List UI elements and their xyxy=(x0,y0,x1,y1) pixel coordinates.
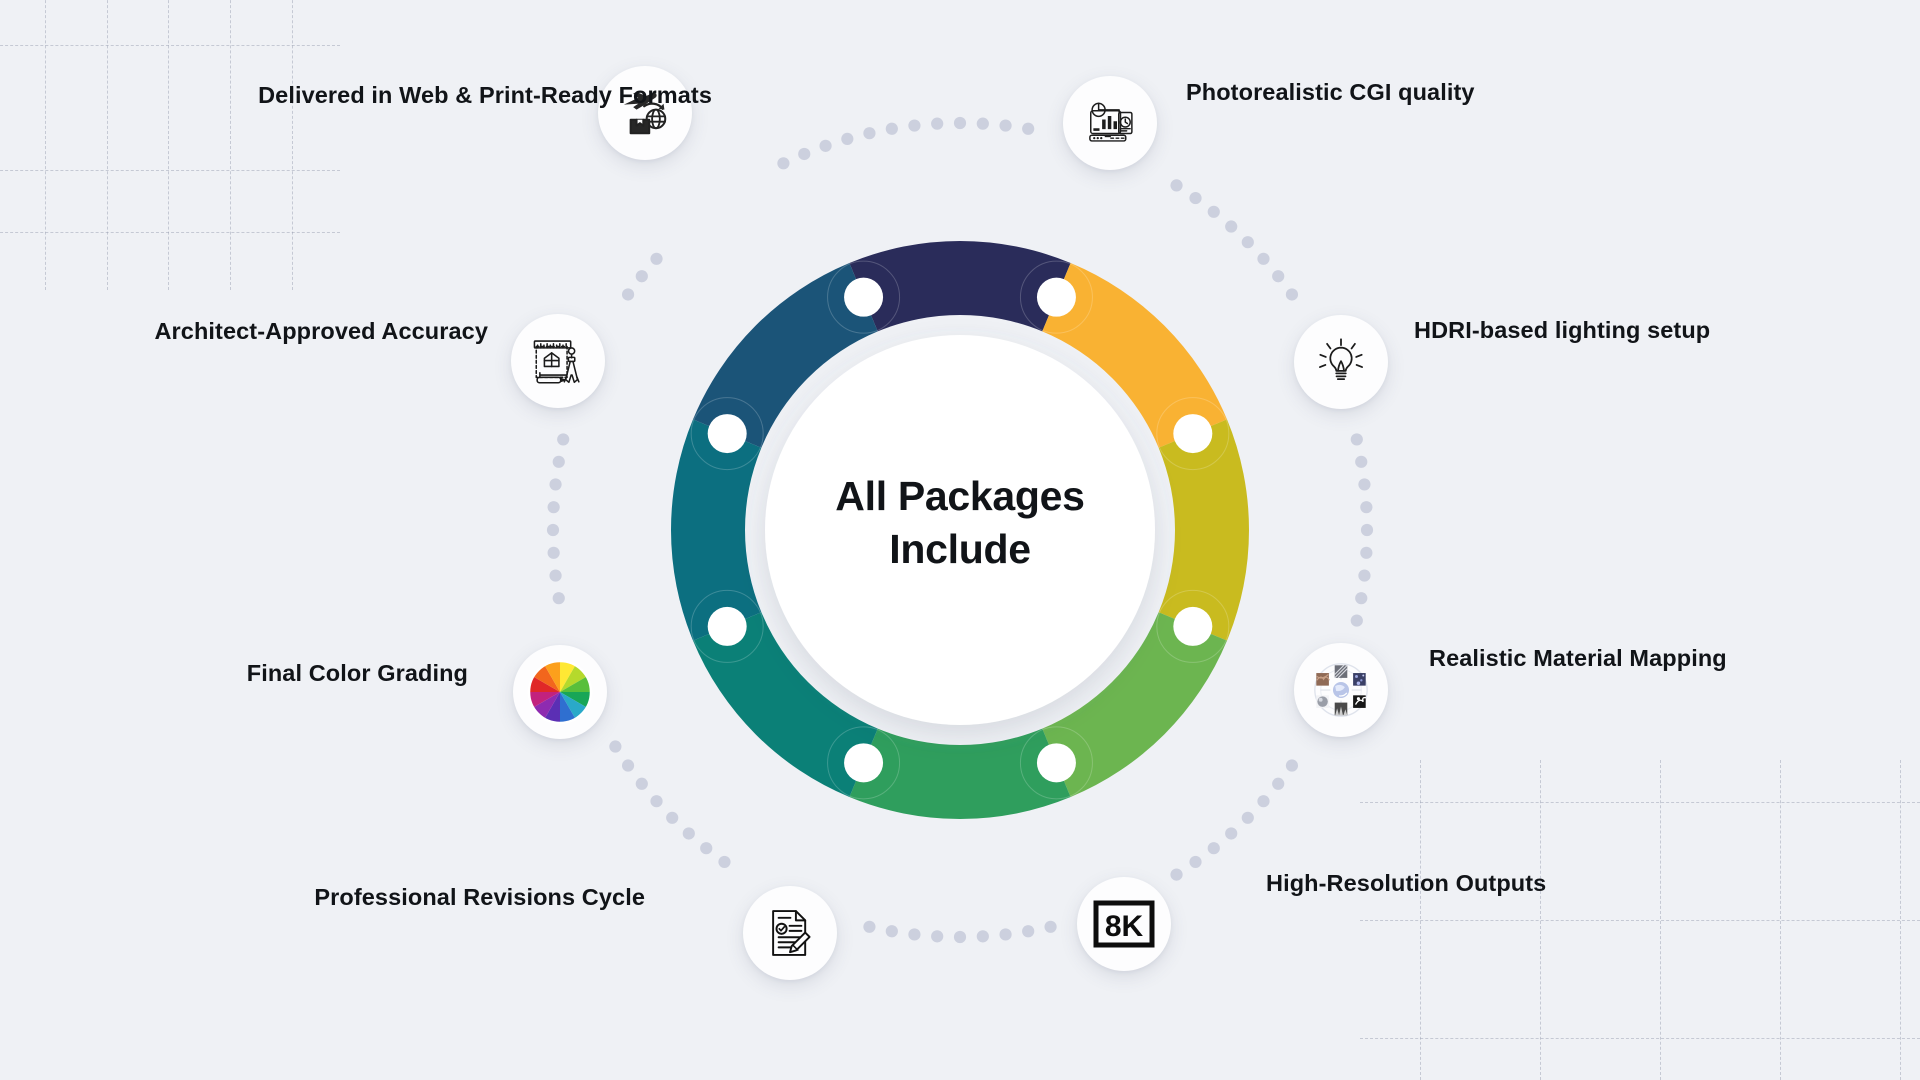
node-dot-6[interactable] xyxy=(708,607,747,646)
orbit-dot xyxy=(908,928,920,940)
orbit-dot xyxy=(1257,795,1269,807)
orbit-dot xyxy=(549,569,561,581)
orbit-dot xyxy=(622,759,634,771)
orbit-dot xyxy=(622,288,634,300)
orbit-dot xyxy=(1360,501,1372,513)
orbit-dot xyxy=(1208,206,1220,218)
node-dot-4[interactable] xyxy=(1037,743,1076,782)
orbit-dot xyxy=(908,119,920,131)
orbit-dot xyxy=(931,118,943,130)
orbit-dot xyxy=(553,456,565,468)
eight-k-icon: 8K xyxy=(1093,900,1155,948)
label-revisions-cycle: Professional Revisions Cycle xyxy=(314,884,645,911)
blueprint-compass-icon xyxy=(529,332,587,390)
ring-segment-delivered-formats[interactable] xyxy=(849,241,1070,331)
orbit-dot xyxy=(683,827,695,839)
icon-bubble-revisions-cycle[interactable] xyxy=(743,886,837,980)
icon-bubble-photorealistic-cgi[interactable] xyxy=(1063,76,1157,170)
orbit-dot xyxy=(1225,827,1237,839)
orbit-dot xyxy=(1170,869,1182,881)
orbit-dot xyxy=(548,547,560,559)
center-title: All Packages Include xyxy=(760,470,1160,577)
node-dot-3[interactable] xyxy=(1173,607,1212,646)
orbit-dot xyxy=(1351,433,1363,445)
ring-segment-color-grading[interactable] xyxy=(671,419,761,640)
orbit-dot xyxy=(931,930,943,942)
orbit-dot xyxy=(650,253,662,265)
orbit-dot xyxy=(1044,921,1056,933)
node-dot-2[interactable] xyxy=(1173,414,1212,453)
orbit-dot xyxy=(547,524,559,536)
color-wheel-icon xyxy=(525,657,595,727)
orbit-dot xyxy=(954,117,966,129)
orbit-dot xyxy=(1355,592,1367,604)
svg-text:8K: 8K xyxy=(1105,910,1144,943)
orbit-dot xyxy=(999,119,1011,131)
orbit-dot xyxy=(863,921,875,933)
orbit-dot xyxy=(954,931,966,943)
icon-bubble-color-grading[interactable] xyxy=(513,645,607,739)
orbit-dot xyxy=(1272,270,1284,282)
label-color-grading: Final Color Grading xyxy=(247,660,468,687)
orbit-dot xyxy=(1286,288,1298,300)
node-dot-5[interactable] xyxy=(844,743,883,782)
orbit-dot xyxy=(1358,478,1370,490)
node-dot-1[interactable] xyxy=(1037,278,1076,317)
label-high-resolution: High-Resolution Outputs xyxy=(1266,870,1546,897)
orbit-dot xyxy=(1361,524,1373,536)
orbit-dot xyxy=(863,127,875,139)
infographic-canvas: All Packages Include xyxy=(0,0,1920,1080)
orbit-dot xyxy=(1351,614,1363,626)
orbit-dot xyxy=(977,118,989,130)
icon-bubble-material-mapping[interactable] xyxy=(1294,643,1388,737)
orbit-dot xyxy=(977,930,989,942)
ring-segment-high-resolution[interactable] xyxy=(849,729,1070,819)
orbit-dot xyxy=(1189,192,1201,204)
orbit-dot xyxy=(700,842,712,854)
orbit-dot xyxy=(1242,236,1254,248)
label-delivered-formats: Delivered in Web & Print-Ready Formats xyxy=(258,82,712,109)
orbit-dot xyxy=(1189,856,1201,868)
orbit-dot xyxy=(636,270,648,282)
orbit-dot xyxy=(819,140,831,152)
node-dot-0[interactable] xyxy=(844,278,883,317)
label-material-mapping: Realistic Material Mapping xyxy=(1429,645,1727,672)
orbit-dot xyxy=(777,157,789,169)
orbit-dot xyxy=(1022,123,1034,135)
icon-bubble-high-resolution[interactable]: 8K xyxy=(1077,877,1171,971)
icon-bubble-delivered-formats[interactable] xyxy=(598,66,692,160)
label-photorealistic-cgi: Photorealistic CGI quality xyxy=(1186,79,1475,106)
analytics-monitor-icon xyxy=(1082,95,1138,151)
orbit-dot xyxy=(886,925,898,937)
orbit-dot xyxy=(886,123,898,135)
orbit-dot xyxy=(609,740,621,752)
orbit-dot xyxy=(1355,456,1367,468)
icon-bubble-architect-accuracy[interactable] xyxy=(511,314,605,408)
orbit-dot xyxy=(798,148,810,160)
orbit-dot xyxy=(999,928,1011,940)
orbit-dot xyxy=(1257,253,1269,265)
orbit-dot xyxy=(1272,778,1284,790)
orbit-dot xyxy=(557,433,569,445)
label-hdri-lighting: HDRI-based lighting setup xyxy=(1414,317,1710,344)
document-check-pencil-icon xyxy=(763,906,817,960)
orbit-dot xyxy=(718,856,730,868)
orbit-dot xyxy=(650,795,662,807)
orbit-dot xyxy=(841,133,853,145)
orbit-dot xyxy=(1208,842,1220,854)
center-title-line-1: All Packages xyxy=(760,470,1160,523)
label-architect-accuracy: Architect-Approved Accuracy xyxy=(154,318,488,345)
center-title-line-2: Include xyxy=(760,523,1160,576)
orbit-dot xyxy=(1170,179,1182,191)
ring-segment-hdri-lighting[interactable] xyxy=(1159,419,1249,640)
lightbulb-icon xyxy=(1314,335,1368,389)
orbit-dot xyxy=(1022,925,1034,937)
orbit-dot xyxy=(548,501,560,513)
orbit-dot xyxy=(1360,547,1372,559)
orbit-dot xyxy=(1225,220,1237,232)
icon-bubble-hdri-lighting[interactable] xyxy=(1294,315,1388,409)
orbit-dot xyxy=(553,592,565,604)
orbit-dot xyxy=(1242,812,1254,824)
orbit-dot xyxy=(636,778,648,790)
orbit-dot xyxy=(1286,759,1298,771)
orbit-dot xyxy=(1358,569,1370,581)
orbit-dot xyxy=(549,478,561,490)
node-dot-7[interactable] xyxy=(708,414,747,453)
orbit-dot xyxy=(666,812,678,824)
texture-material-sphere-icon xyxy=(1310,659,1372,721)
